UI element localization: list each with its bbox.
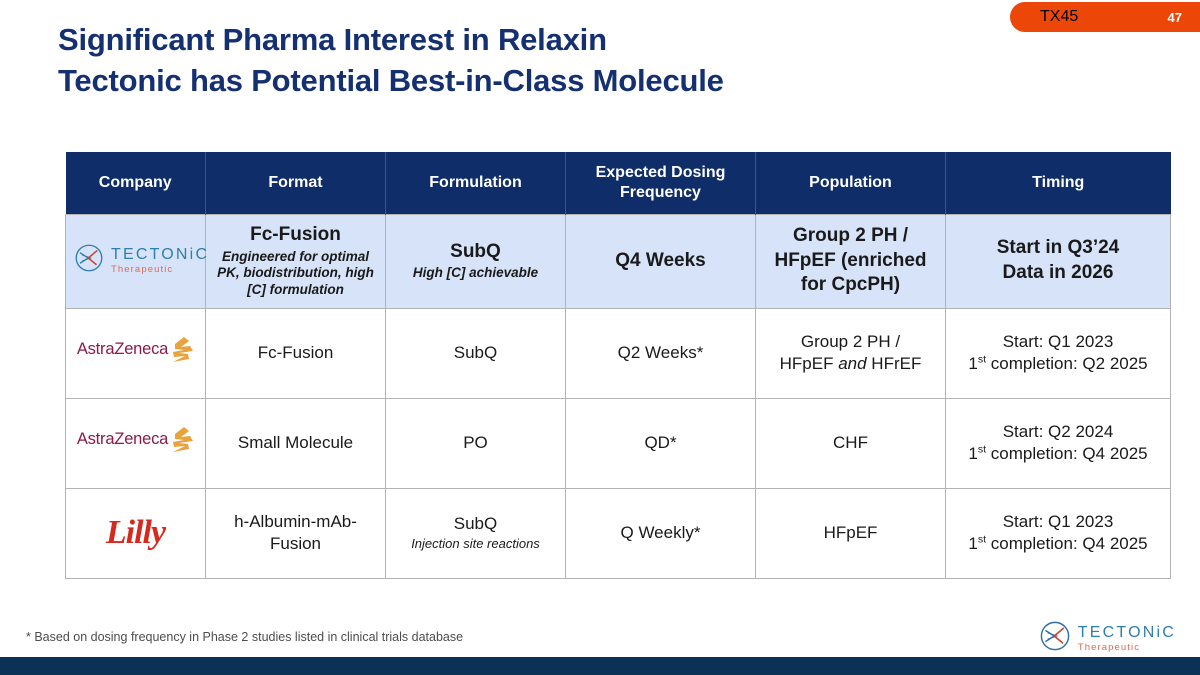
cell-frequency: Q2 Weeks* xyxy=(566,308,756,398)
tectonic-mark-icon xyxy=(74,243,104,279)
format-main: Fc-Fusion xyxy=(214,223,377,248)
tectonic-mark-icon xyxy=(1039,620,1071,657)
cell-timing: Start: Q2 2024 1st completion: Q4 2025 xyxy=(946,398,1171,488)
format-sub: Engineered for optimal PK, biodistributi… xyxy=(214,249,377,300)
page-title-line-2: Tectonic has Potential Best-in-Class Mol… xyxy=(58,61,1008,102)
cell-format: h-Albumin-mAb-Fusion xyxy=(206,488,386,578)
cell-formulation: SubQ High [C] achievable xyxy=(386,214,566,308)
astrazeneca-mark-icon xyxy=(168,335,194,371)
bottom-accent-bar xyxy=(0,657,1200,675)
table-row: Lilly h-Albumin-mAb-Fusion SubQ Injectio… xyxy=(66,488,1171,578)
comparison-table: Company Format Formulation Expected Dosi… xyxy=(65,152,1171,579)
lilly-name: Lilly xyxy=(106,514,165,551)
table-row: TECTONiC Therapeutic Fc-Fusion Engineere… xyxy=(66,214,1171,308)
timing-line-1: Start: Q1 2023 xyxy=(954,511,1162,533)
astrazeneca-logo: AstraZeneca xyxy=(77,425,194,461)
badge-program-label: TX45 xyxy=(1040,8,1078,26)
cell-timing: Start in Q3’24 Data in 2026 xyxy=(946,214,1171,308)
cell-population: CHF xyxy=(756,398,946,488)
timing-line-1: Start: Q2 2024 xyxy=(954,421,1162,443)
column-header-frequency: Expected Dosing Frequency xyxy=(566,152,756,214)
cell-company: Lilly xyxy=(66,488,206,578)
astrazeneca-name: AstraZeneca xyxy=(77,431,168,448)
table-header: Company Format Formulation Expected Dosi… xyxy=(66,152,1171,214)
cell-frequency: QD* xyxy=(566,398,756,488)
column-header-company: Company xyxy=(66,152,206,214)
table-row: AstraZeneca Small Molecule PO xyxy=(66,398,1171,488)
tectonic-name: TECTONiC xyxy=(111,247,209,263)
population-line-1: Group 2 PH / xyxy=(764,331,937,353)
formulation-sub: Injection site reactions xyxy=(394,536,557,552)
astrazeneca-logo: AstraZeneca xyxy=(77,335,194,371)
population-line-1: HFpEF xyxy=(764,522,937,544)
population-line-1: CHF xyxy=(764,432,937,454)
cell-timing: Start: Q1 2023 1st completion: Q2 2025 xyxy=(946,308,1171,398)
timing-line-2: Data in 2026 xyxy=(954,261,1162,286)
cell-format: Fc-Fusion xyxy=(206,308,386,398)
tectonic-wordmark: TECTONiC Therapeutic xyxy=(111,247,209,275)
format-main: Fc-Fusion xyxy=(214,342,377,364)
astrazeneca-mark-icon xyxy=(168,425,194,461)
lilly-logo: Lilly xyxy=(106,528,165,547)
cell-frequency: Q4 Weeks xyxy=(566,214,756,308)
comparison-table-container: Company Format Formulation Expected Dosi… xyxy=(65,152,1170,579)
formulation-sub: High [C] achievable xyxy=(394,265,557,282)
program-slide-badge: TX45 47 xyxy=(1010,2,1200,32)
cell-format: Fc-Fusion Engineered for optimal PK, bio… xyxy=(206,214,386,308)
column-header-format: Format xyxy=(206,152,386,214)
tectonic-tagline: Therapeutic xyxy=(111,265,209,275)
cell-formulation: SubQ Injection site reactions xyxy=(386,488,566,578)
formulation-main: SubQ xyxy=(394,342,557,364)
cell-company: AstraZeneca xyxy=(66,398,206,488)
footnote: * Based on dosing frequency in Phase 2 s… xyxy=(26,630,463,644)
tectonic-logo: TECTONiC Therapeutic xyxy=(74,243,209,279)
format-main: Small Molecule xyxy=(214,432,377,454)
cell-company: AstraZeneca xyxy=(66,308,206,398)
column-header-population: Population xyxy=(756,152,946,214)
slide: TX45 47 Significant Pharma Interest in R… xyxy=(0,0,1200,675)
format-main: h-Albumin-mAb-Fusion xyxy=(214,511,377,555)
timing-line-2: 1st completion: Q4 2025 xyxy=(954,443,1162,465)
footer-logo-name: TECTONiC xyxy=(1078,625,1176,641)
page-title-line-1: Significant Pharma Interest in Relaxin xyxy=(58,20,1008,61)
cell-formulation: SubQ xyxy=(386,308,566,398)
formulation-main: PO xyxy=(394,432,557,454)
cell-population: HFpEF xyxy=(756,488,946,578)
cell-population: Group 2 PH / HFpEF and HFrEF xyxy=(756,308,946,398)
cell-format: Small Molecule xyxy=(206,398,386,488)
column-header-formulation: Formulation xyxy=(386,152,566,214)
cell-company: TECTONiC Therapeutic xyxy=(66,214,206,308)
page-title: Significant Pharma Interest in Relaxin T… xyxy=(58,20,1008,102)
cell-frequency: Q Weekly* xyxy=(566,488,756,578)
timing-line-2: 1st completion: Q2 2025 xyxy=(954,353,1162,375)
cell-formulation: PO xyxy=(386,398,566,488)
timing-line-2: 1st completion: Q4 2025 xyxy=(954,533,1162,555)
timing-line-1: Start in Q3’24 xyxy=(954,236,1162,261)
population-line-2: HFpEF and HFrEF xyxy=(764,353,937,375)
badge-slide-number: 47 xyxy=(1168,10,1182,25)
table-header-row: Company Format Formulation Expected Dosi… xyxy=(66,152,1171,214)
table-body: TECTONiC Therapeutic Fc-Fusion Engineere… xyxy=(66,214,1171,578)
footer-tectonic-logo: TECTONiC Therapeutic xyxy=(1039,620,1176,657)
cell-population: Group 2 PH / HFpEF (enriched for CpcPH) xyxy=(756,214,946,308)
footer-logo-tagline: Therapeutic xyxy=(1078,643,1176,653)
formulation-main: SubQ xyxy=(394,240,557,265)
formulation-main: SubQ xyxy=(394,513,557,535)
astrazeneca-name: AstraZeneca xyxy=(77,341,168,358)
cell-timing: Start: Q1 2023 1st completion: Q4 2025 xyxy=(946,488,1171,578)
table-row: AstraZeneca Fc-Fusion SubQ xyxy=(66,308,1171,398)
column-header-timing: Timing xyxy=(946,152,1171,214)
timing-line-1: Start: Q1 2023 xyxy=(954,331,1162,353)
